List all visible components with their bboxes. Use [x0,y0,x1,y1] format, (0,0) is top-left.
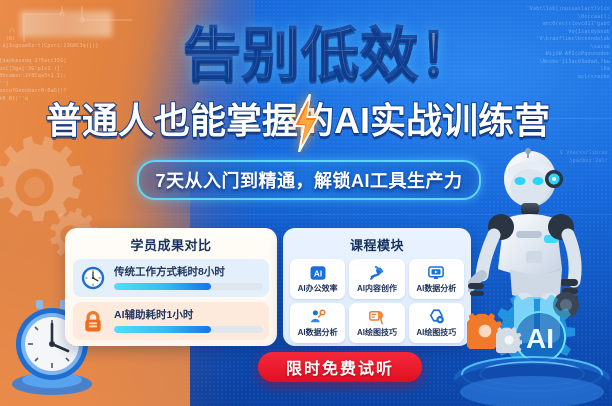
poster-canvas: /\ )0( a[1sgoae0z:t(Cpvri:13G0C3q)])} [q… [0,0,612,406]
emblem-label: AI [526,323,554,354]
cta-free-trial-button[interactable]: 限时免费试听 [258,352,422,382]
progress-fill [114,326,211,333]
module-label: AI数据分析 [298,327,338,338]
drawing-tablet-icon [368,308,386,326]
comparison-row-label: AI辅助耗时1小时 [114,309,263,322]
module-label: AI内容创作 [357,283,397,294]
module-item-data-2[interactable]: AI数据分析 [290,303,345,343]
module-label: AI绘图技巧 [416,327,456,338]
person-analytics-icon [309,308,327,326]
lightning-bolt-icon [291,94,321,152]
hexagon-gear-icon [427,308,445,326]
comparison-card-title: 学员成果对比 [65,235,277,254]
module-item-office[interactable]: AI AI办公效率 [290,259,345,299]
module-item-drawing-2[interactable]: AI绘图技巧 [409,303,464,343]
progress-track [114,283,263,290]
gear-gray-icon [496,327,522,353]
podium-platform [452,352,612,406]
monitor-play-icon [427,264,445,282]
code-texture-right: 'Vabtl1ob])nussaslactlvlcn \0occaacl; an… [527,6,610,81]
subtitle-pill: 7天从入门到精通，解锁AI工具生产力 [137,160,481,200]
svg-text:AI: AI [314,269,322,278]
module-label: AI数据分析 [416,283,456,294]
module-item-content[interactable]: AI内容创作 [349,259,404,299]
code-texture-left: /\ )0( a[1sgoae0z:t(Cpvri:13G0C3q)])} [q… [0,28,99,103]
headline-primary: 告别低效！ [183,20,453,92]
comparison-row-ai: AI辅助耗时1小时 [73,302,269,340]
subtitle-text: 7天从入门到精通，解锁AI工具生产力 [155,167,462,193]
module-label: AI办公效率 [298,283,338,294]
clock-icon [79,264,107,292]
lock-icon [79,307,107,335]
cta-label: 限时免费试听 [286,355,394,379]
comparison-card: 学员成果对比 传统工作方式耗时8小时 [65,228,277,346]
headline-secondary: 普通人也能掌握的AI实战训练营 [46,98,446,144]
blurred-watermark [20,11,112,37]
modules-card: 课程模块 AI AI办公效率 AI内容创作 [283,228,471,346]
comparison-row-traditional: 传统工作方式耗时8小时 [73,259,269,297]
microphone-pen-icon [368,264,386,282]
ai-badge-icon: AI [309,264,327,282]
progress-fill [114,283,211,290]
modules-grid: AI AI办公效率 AI内容创作 [290,259,464,343]
modules-card-title: 课程模块 [283,235,471,254]
module-label: AI绘图技巧 [357,327,397,338]
module-item-data-1[interactable]: AI数据分析 [409,259,464,299]
module-item-drawing-1[interactable]: AI绘图技巧 [349,303,404,343]
comparison-row-label: 传统工作方式耗时8小时 [114,266,263,279]
progress-track [114,326,263,333]
